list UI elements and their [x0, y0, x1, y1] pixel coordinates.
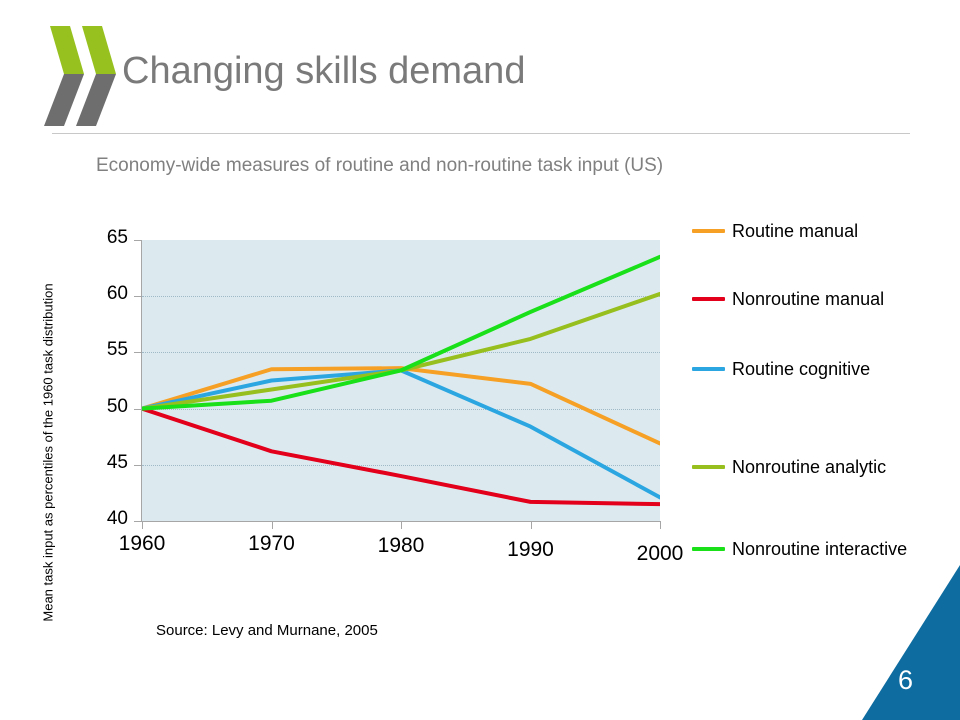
chart-legend: Routine manualNonroutine manualRoutine c… — [692, 206, 954, 556]
x-axis-tick — [660, 521, 661, 529]
legend-item[interactable]: Nonroutine interactive — [692, 536, 907, 562]
series-lines — [142, 240, 660, 521]
x-axis-label: 1980 — [363, 534, 439, 558]
y-axis-label: 65 — [78, 227, 128, 249]
x-axis-label: 2000 — [622, 542, 698, 566]
y-axis-title: Mean task input as percentiles of the 19… — [41, 203, 56, 703]
y-axis-tick — [134, 352, 142, 353]
x-axis-tick — [531, 521, 532, 529]
legend-label: Routine manual — [732, 221, 858, 242]
y-axis-tick — [134, 521, 142, 522]
legend-color-swatch — [692, 547, 725, 551]
x-axis-tick — [401, 521, 402, 529]
y-axis-label: 55 — [78, 339, 128, 361]
legend-item[interactable]: Nonroutine analytic — [692, 454, 886, 480]
y-axis-label: 60 — [78, 283, 128, 305]
page-number: 6 — [898, 665, 938, 696]
x-axis-tick — [142, 521, 143, 529]
x-axis-tick — [272, 521, 273, 529]
y-axis-label: 45 — [78, 452, 128, 474]
source-note: Source: Levy and Murnane, 2005 — [156, 622, 378, 639]
legend-color-swatch — [692, 229, 725, 233]
x-axis-label: 1970 — [234, 532, 310, 556]
legend-color-swatch — [692, 297, 725, 301]
legend-label: Nonroutine manual — [732, 289, 884, 310]
y-axis-label: 40 — [78, 508, 128, 530]
legend-color-swatch — [692, 465, 725, 469]
x-axis-label: 1960 — [104, 532, 180, 556]
y-axis-tick — [134, 240, 142, 241]
legend-item[interactable]: Routine cognitive — [692, 356, 870, 382]
slide: Changing skills demand Economy-wide meas… — [0, 0, 960, 720]
legend-label: Nonroutine interactive — [732, 539, 907, 560]
legend-item[interactable]: Nonroutine manual — [692, 286, 884, 312]
legend-label: Routine cognitive — [732, 359, 870, 380]
legend-item[interactable]: Routine manual — [692, 218, 858, 244]
y-axis-label: 50 — [78, 396, 128, 418]
y-axis-tick — [134, 296, 142, 297]
legend-color-swatch — [692, 367, 725, 371]
y-axis-tick — [134, 409, 142, 410]
x-axis-label: 1990 — [493, 538, 569, 562]
legend-label: Nonroutine analytic — [732, 457, 886, 478]
y-axis-tick — [134, 465, 142, 466]
